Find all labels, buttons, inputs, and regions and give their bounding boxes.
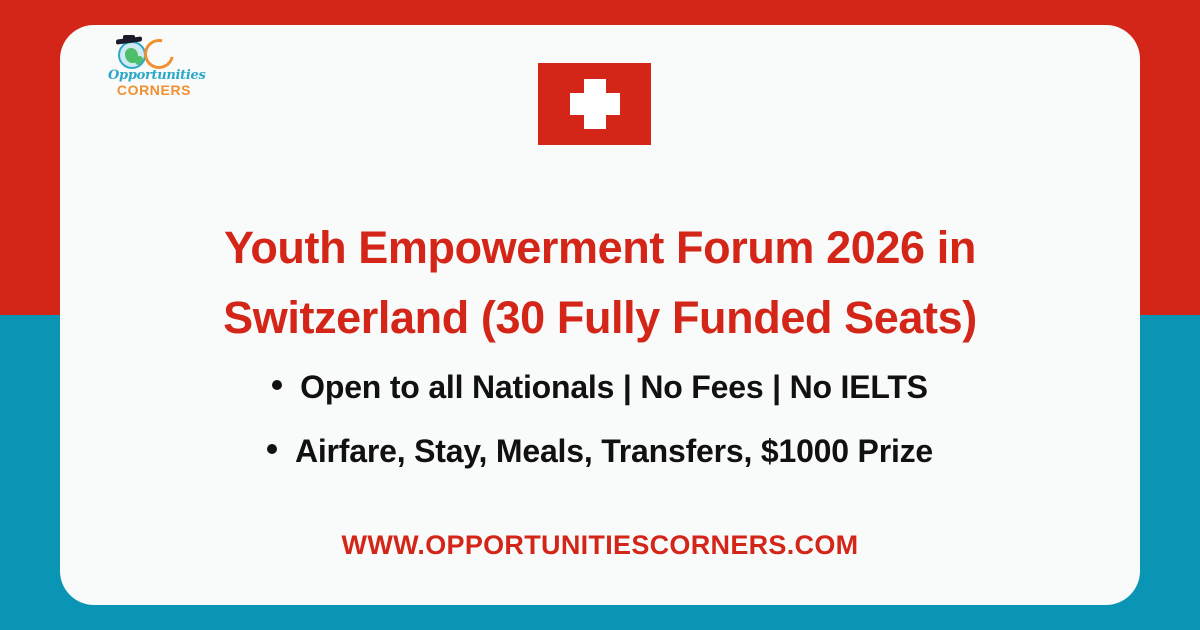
- switzerland-flag-icon: [538, 63, 651, 145]
- poster: Opportunities CORNERS Youth Empowerment …: [0, 0, 1200, 630]
- page-title-line-2: Switzerland (30 Fully Funded Seats): [100, 283, 1100, 353]
- list-item: Airfare, Stay, Meals, Transfers, $1000 P…: [100, 419, 1100, 483]
- bullet-dot-icon: [267, 444, 277, 454]
- globe-icon: [118, 41, 146, 69]
- content-card: Opportunities CORNERS Youth Empowerment …: [60, 25, 1140, 605]
- page-title-line-1: Youth Empowerment Forum 2026 in: [100, 213, 1100, 283]
- graduation-cap-icon: [116, 35, 142, 45]
- list-item: Open to all Nationals | No Fees | No IEL…: [100, 355, 1100, 419]
- logo-word-opportunities: Opportunities: [108, 68, 200, 83]
- brand-logo[interactable]: Opportunities CORNERS: [104, 35, 200, 97]
- cap-brim: [116, 36, 142, 44]
- list-item-label: Open to all Nationals | No Fees | No IEL…: [300, 355, 928, 419]
- list-item-label: Airfare, Stay, Meals, Transfers, $1000 P…: [295, 419, 933, 483]
- page-title: Youth Empowerment Forum 2026 in Switzerl…: [100, 213, 1100, 353]
- logo-word-corners: CORNERS: [108, 82, 200, 98]
- highlights-list: Open to all Nationals | No Fees | No IEL…: [100, 355, 1100, 483]
- flag-cross-horizontal: [570, 93, 620, 115]
- logo-mark: [104, 35, 200, 71]
- bullet-dot-icon: [272, 380, 282, 390]
- website-url[interactable]: WWW.OPPORTUNITIESCORNERS.COM: [100, 530, 1100, 561]
